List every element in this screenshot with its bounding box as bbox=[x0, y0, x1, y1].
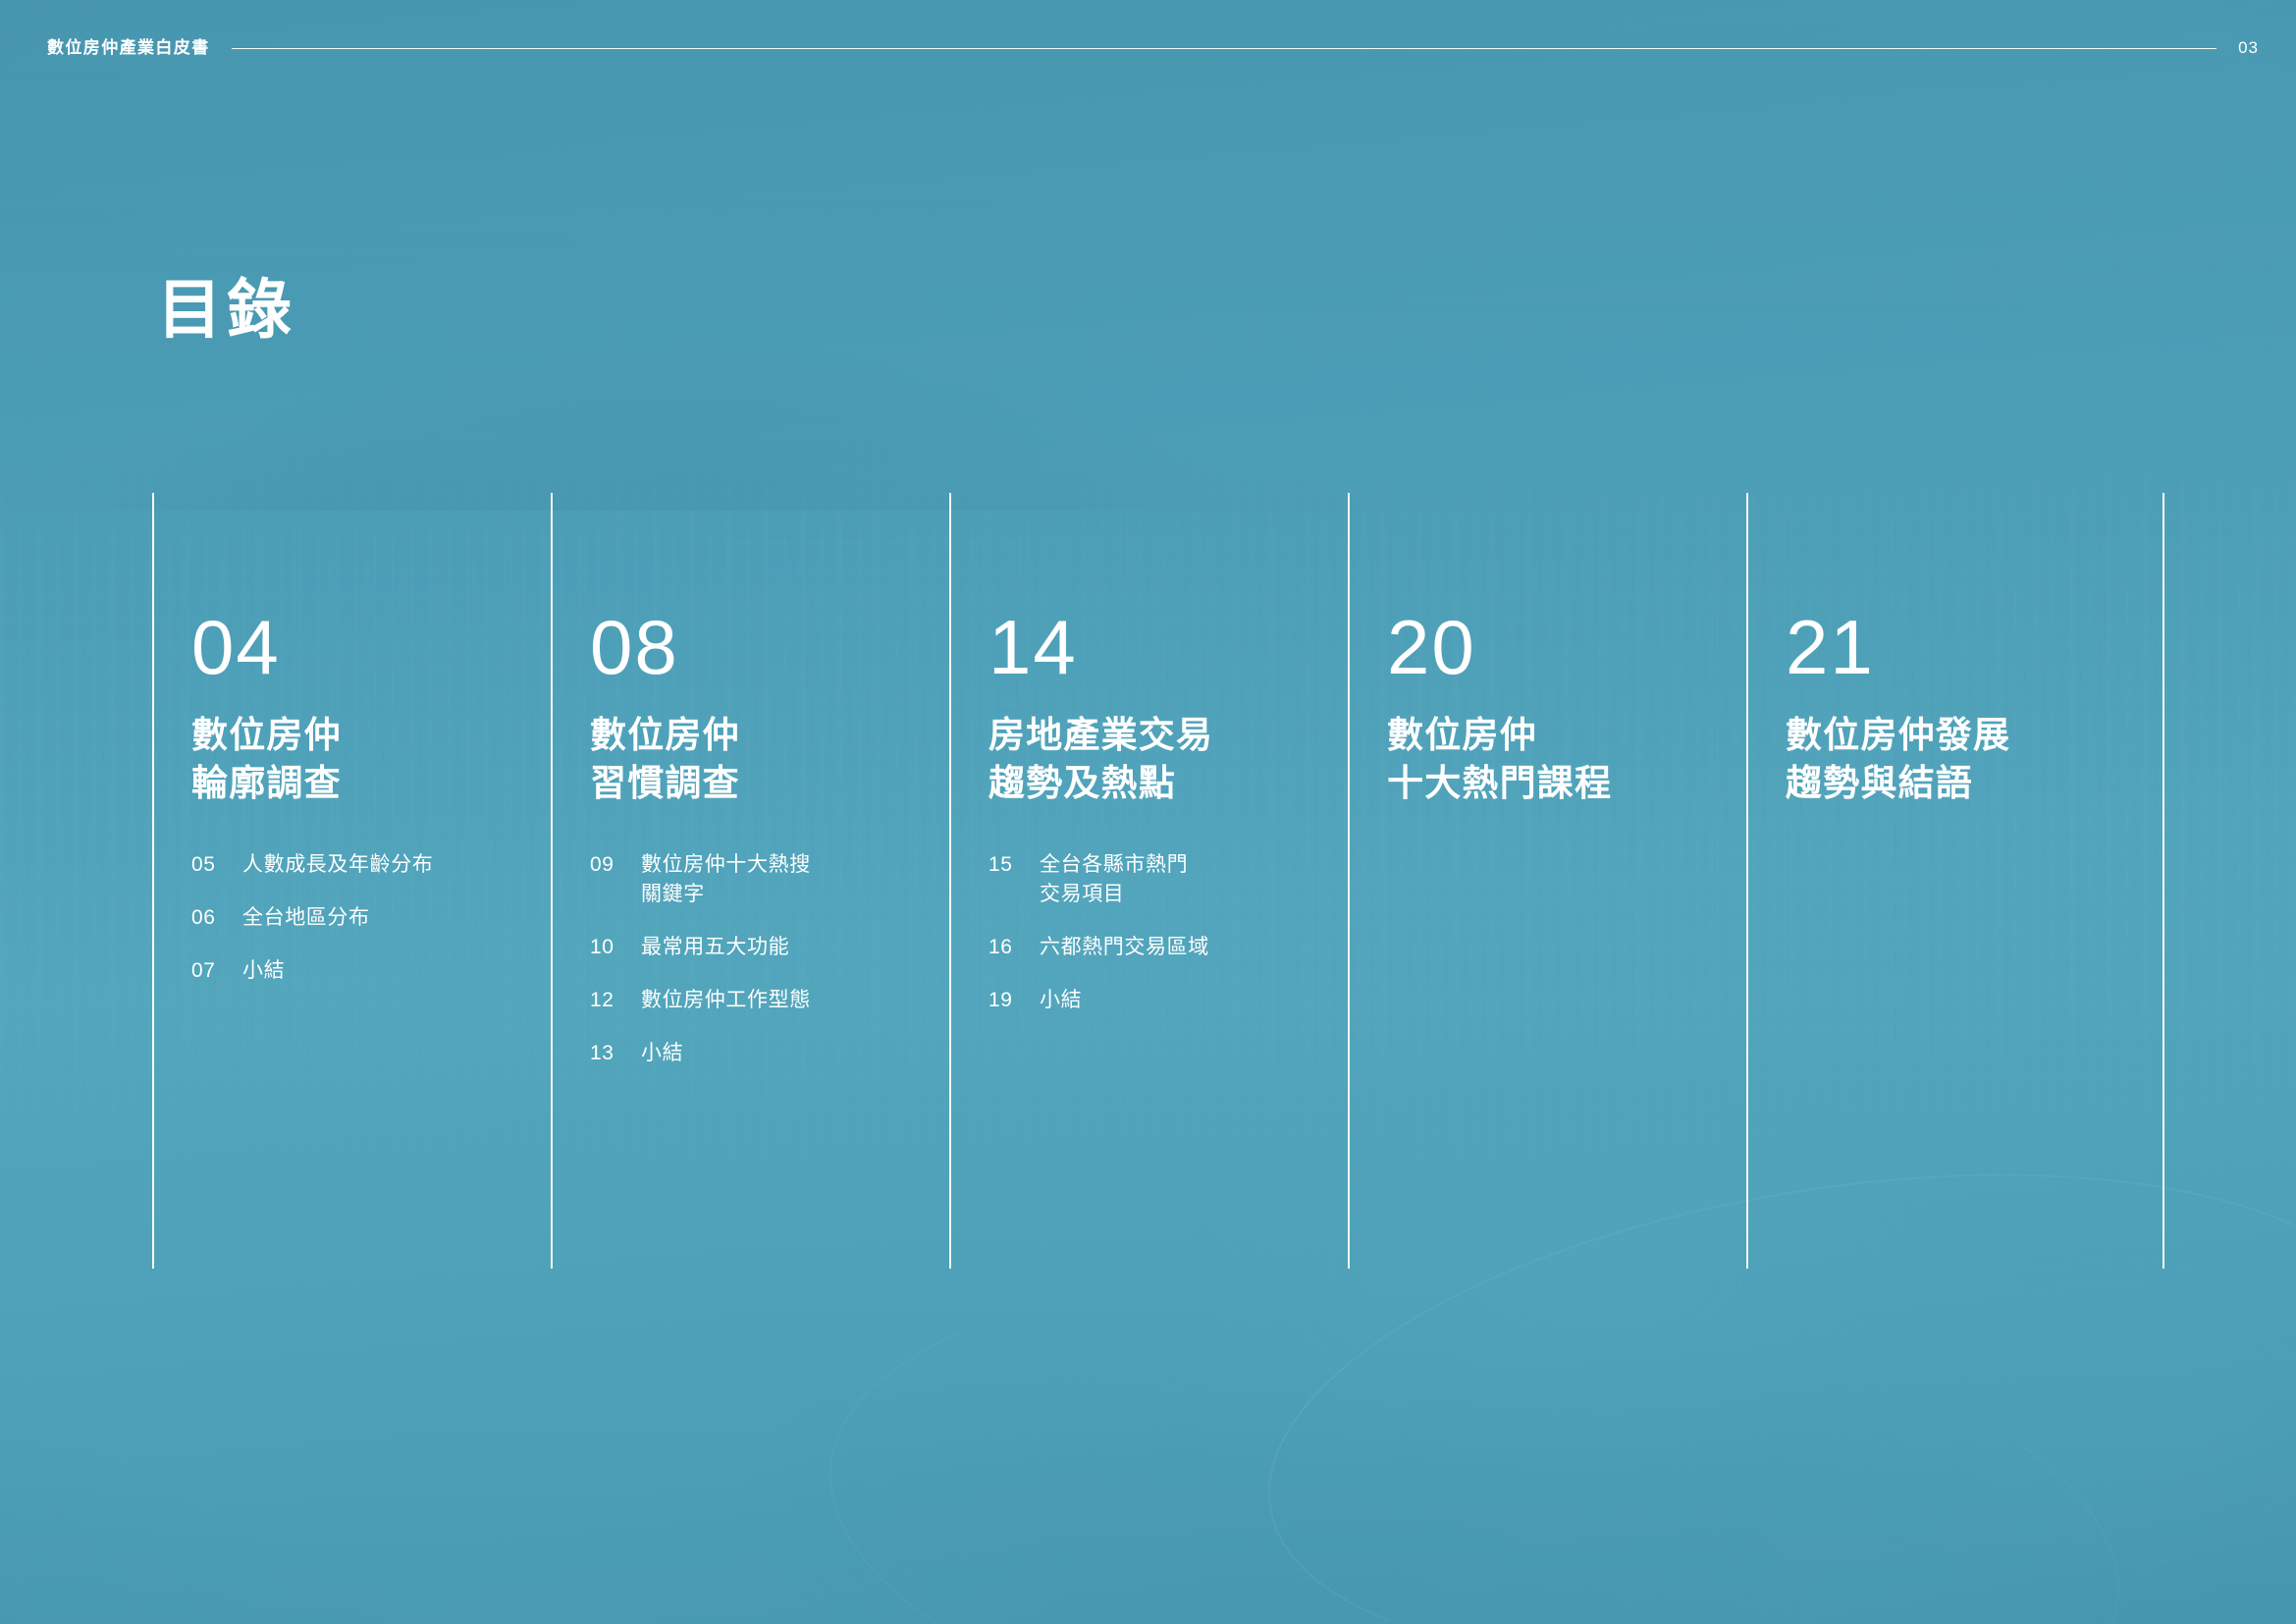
toc-subitem-list: 09 數位房仲十大熱搜 關鍵字 10 最常用五大功能 12 數位房仲工作型態 1… bbox=[590, 850, 930, 1067]
toc-columns: 04 數位房仲 輪廓調查 05 人數成長及年齡分布 06 全台地區分布 07 小… bbox=[152, 493, 2159, 1269]
subitem-page-number: 06 bbox=[191, 903, 221, 933]
toc-section-heading: 數位房仲 習慣調查 bbox=[590, 711, 930, 807]
toc-section-heading: 數位房仲 輪廓調查 bbox=[191, 711, 531, 807]
subitem-page-number: 15 bbox=[988, 850, 1018, 880]
toc-section-number: 21 bbox=[1786, 609, 2125, 685]
column-divider bbox=[551, 493, 553, 1269]
subitem-label: 六都熱門交易區域 bbox=[1040, 933, 1328, 962]
list-item[interactable]: 19 小結 bbox=[988, 986, 1328, 1015]
toc-column-3[interactable]: 14 房地產業交易 趨勢及熱點 15 全台各縣市熱門 交易項目 16 六都熱門交… bbox=[949, 493, 1348, 1269]
toc-column-4[interactable]: 20 數位房仲 十大熱門課程 bbox=[1348, 493, 1746, 1269]
document-title: 數位房仲產業白皮書 bbox=[47, 35, 210, 61]
toc-subitem-list: 05 人數成長及年齡分布 06 全台地區分布 07 小結 bbox=[191, 850, 531, 985]
toc-section-heading: 數位房仲發展 趨勢與結語 bbox=[1786, 711, 2125, 807]
subitem-page-number: 13 bbox=[590, 1039, 619, 1068]
toc-section-heading: 房地產業交易 趨勢及熱點 bbox=[988, 711, 1328, 807]
list-item[interactable]: 16 六都熱門交易區域 bbox=[988, 933, 1328, 962]
list-item[interactable]: 15 全台各縣市熱門 交易項目 bbox=[988, 850, 1328, 909]
subitem-label: 人數成長及年齡分布 bbox=[242, 850, 531, 880]
toc-column-2[interactable]: 08 數位房仲 習慣調查 09 數位房仲十大熱搜 關鍵字 10 最常用五大功能 … bbox=[551, 493, 949, 1269]
column-divider bbox=[1746, 493, 1748, 1269]
subitem-label: 數位房仲十大熱搜 關鍵字 bbox=[641, 850, 930, 909]
page-number: 03 bbox=[2238, 35, 2259, 61]
page-title: 目錄 bbox=[157, 277, 296, 342]
subitem-label: 小結 bbox=[641, 1039, 930, 1068]
subitem-page-number: 09 bbox=[590, 850, 619, 880]
list-item[interactable]: 06 全台地區分布 bbox=[191, 903, 531, 933]
subitem-page-number: 16 bbox=[988, 933, 1018, 962]
toc-section-number: 04 bbox=[191, 609, 531, 685]
list-item[interactable]: 09 數位房仲十大熱搜 關鍵字 bbox=[590, 850, 930, 909]
list-item[interactable]: 13 小結 bbox=[590, 1039, 930, 1068]
list-item[interactable]: 12 數位房仲工作型態 bbox=[590, 986, 930, 1015]
list-item[interactable]: 10 最常用五大功能 bbox=[590, 933, 930, 962]
running-header: 數位房仲產業白皮書 03 bbox=[47, 35, 2259, 61]
column-divider bbox=[949, 493, 951, 1269]
subitem-label: 數位房仲工作型態 bbox=[641, 986, 930, 1015]
toc-section-number: 20 bbox=[1387, 609, 1727, 685]
toc-section-heading: 數位房仲 十大熱門課程 bbox=[1387, 711, 1727, 807]
column-divider-trailing bbox=[2163, 493, 2164, 1269]
toc-page: 數位房仲產業白皮書 03 目錄 04 數位房仲 輪廓調查 05 人數成長及年齡分… bbox=[0, 0, 2296, 1624]
subitem-page-number: 07 bbox=[191, 956, 221, 986]
subitem-label: 小結 bbox=[242, 956, 531, 986]
subitem-label: 全台各縣市熱門 交易項目 bbox=[1040, 850, 1328, 909]
toc-section-number: 14 bbox=[988, 609, 1328, 685]
header-rule bbox=[232, 48, 2216, 49]
subitem-page-number: 19 bbox=[988, 986, 1018, 1015]
toc-subitem-list: 15 全台各縣市熱門 交易項目 16 六都熱門交易區域 19 小結 bbox=[988, 850, 1328, 1014]
subitem-page-number: 10 bbox=[590, 933, 619, 962]
column-divider bbox=[1348, 493, 1350, 1269]
subitem-label: 全台地區分布 bbox=[242, 903, 531, 933]
list-item[interactable]: 07 小結 bbox=[191, 956, 531, 986]
toc-column-5[interactable]: 21 數位房仲發展 趨勢與結語 bbox=[1746, 493, 2145, 1269]
subitem-page-number: 05 bbox=[191, 850, 221, 880]
subitem-page-number: 12 bbox=[590, 986, 619, 1015]
column-divider bbox=[152, 493, 154, 1269]
toc-column-1[interactable]: 04 數位房仲 輪廓調查 05 人數成長及年齡分布 06 全台地區分布 07 小… bbox=[152, 493, 551, 1269]
subitem-label: 最常用五大功能 bbox=[641, 933, 930, 962]
subitem-label: 小結 bbox=[1040, 986, 1328, 1015]
toc-section-number: 08 bbox=[590, 609, 930, 685]
list-item[interactable]: 05 人數成長及年齡分布 bbox=[191, 850, 531, 880]
